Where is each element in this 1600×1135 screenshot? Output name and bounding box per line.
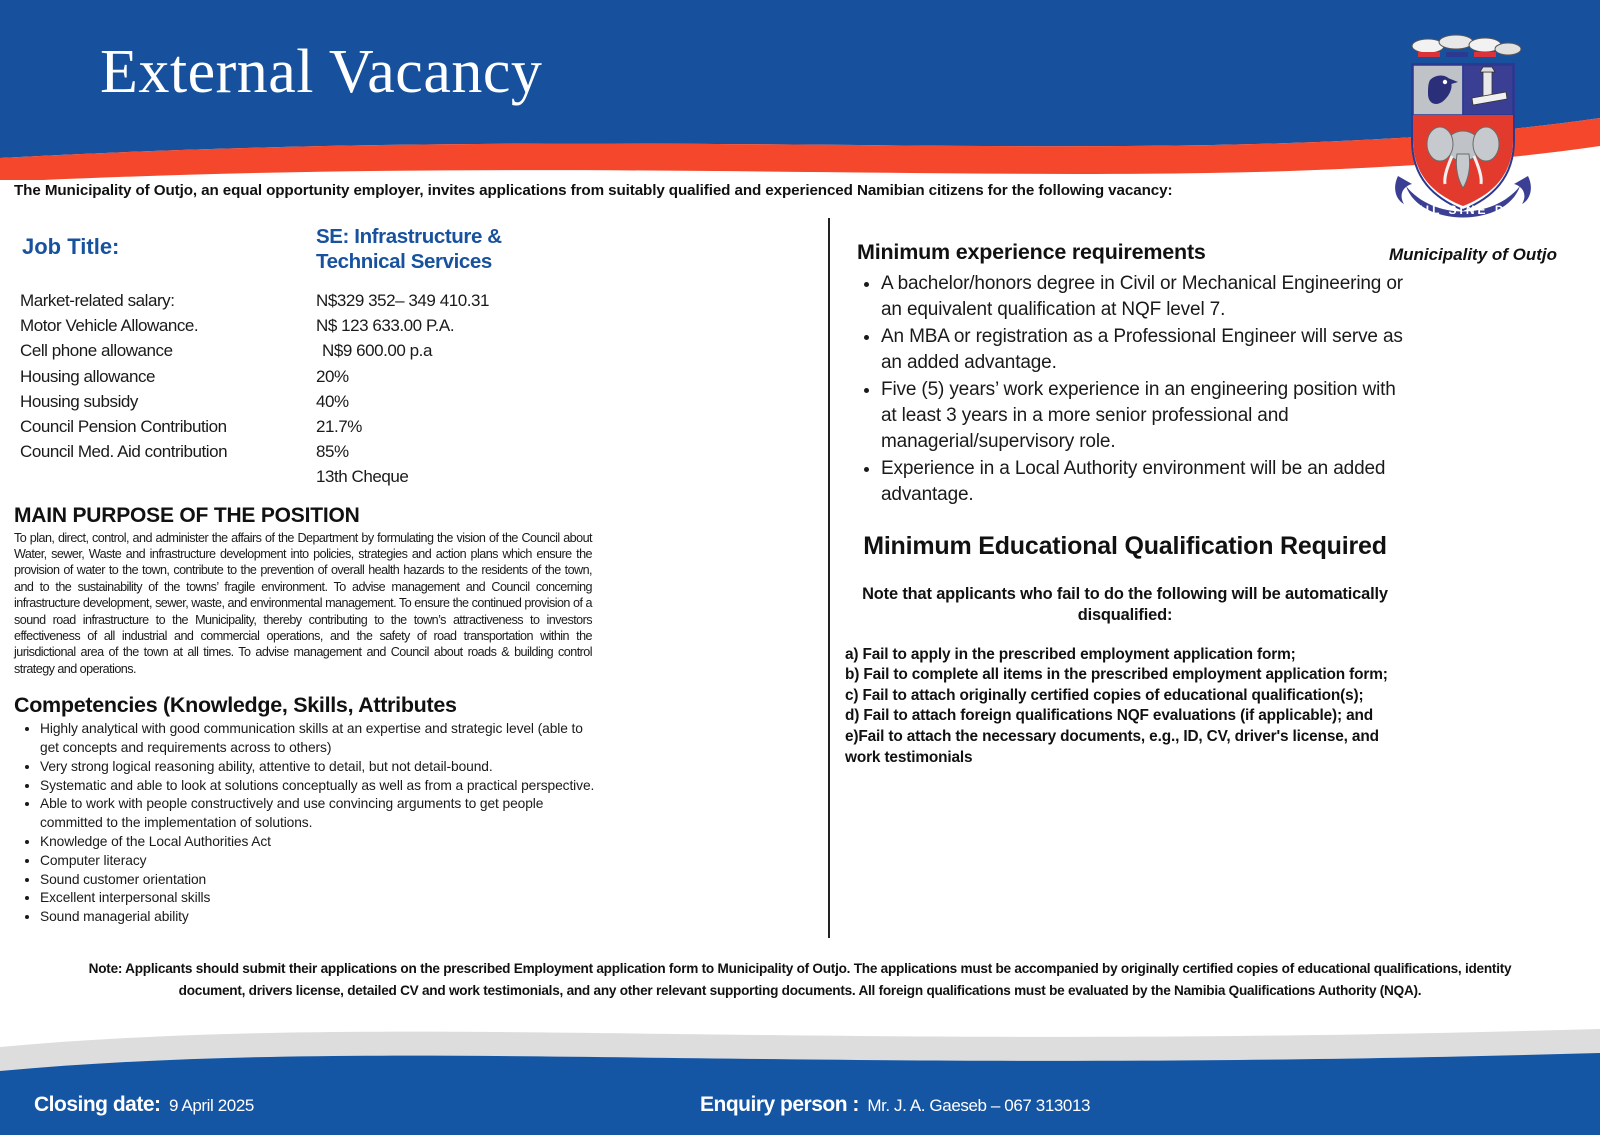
enquiry-label: Enquiry person : [700,1093,859,1116]
job-title-row: Job Title: SE: Infrastructure & Technica… [8,222,600,280]
job-title-value: SE: Infrastructure & Technical Services [316,224,596,274]
competencies-list: Highly analytical with good communicatio… [8,720,600,927]
table-row: 13th Cheque [8,464,600,489]
disqualification-note: Note that applicants who fail to do the … [845,584,1405,627]
list-item: Highly analytical with good communicatio… [40,720,600,758]
page-title: External Vacancy [100,38,542,106]
right-column: Minimum experience requirements A bachel… [845,232,1405,768]
pay-label: Housing allowance [20,364,155,389]
pay-value: 21.7% [316,414,362,439]
pay-label: Cell phone allowance [20,338,173,363]
list-item: Sound customer orientation [40,871,600,890]
table-row: Cell phone allowance N$9 600.00 p.a [8,338,600,363]
table-row: Housing allowance 20% [8,364,600,389]
pay-value: N$329 352– 349 410.31 [316,288,489,313]
list-item: c) Fail to attach originally certified c… [845,686,1405,707]
list-item: Systematic and able to look at solutions… [40,777,600,796]
list-item: e)Fail to attach the necessary documents… [845,727,1405,768]
list-item: Computer literacy [40,852,600,871]
list-item: b) Fail to complete all items in the pre… [845,665,1405,686]
table-row: Market-related salary: N$329 352– 349 41… [8,288,600,313]
shield-icon [1412,64,1514,210]
column-divider [828,218,830,938]
pay-value: 20% [316,364,349,389]
table-row: Council Med. Aid contribution 85% [8,439,600,464]
header-banner: External Vacancy [0,0,1600,180]
pay-label: Motor Vehicle Allowance. [20,313,198,338]
table-row: Housing subsidy 40% [8,389,600,414]
list-item: Experience in a Local Authority environm… [881,456,1405,508]
list-item: Sound managerial ability [40,908,600,927]
pay-extra-value: 13th Cheque [316,467,408,486]
footer-content: Closing date: 9 April 2025 Enquiry perso… [0,1083,1600,1117]
closing-date-value: 9 April 2025 [169,1096,254,1115]
pay-value: N$ 123 633.00 P.A. [316,313,454,338]
disqualification-list: a) Fail to apply in the prescribed emplo… [845,645,1405,769]
remuneration-table: Market-related salary: N$329 352– 349 41… [8,288,600,490]
list-item: A bachelor/honors degree in Civil or Mec… [881,271,1405,323]
pay-label: Council Pension Contribution [20,414,227,439]
list-item: d) Fail to attach foreign qualifications… [845,706,1405,727]
competencies-heading: Competencies (Knowledge, Skills, Attribu… [14,693,600,718]
list-item: Five (5) years’ work experience in an en… [881,377,1405,455]
list-item: a) Fail to apply in the prescribed emplo… [845,645,1405,666]
job-title-label: Job Title: [22,234,119,260]
list-item: Able to work with people constructively … [40,795,600,833]
list-item: Excellent interpersonal skills [40,889,600,908]
pay-label: Housing subsidy [20,389,138,414]
pay-label: Market-related salary: [20,288,175,313]
table-row: Motor Vehicle Allowance. N$ 123 633.00 P… [8,313,600,338]
pay-label: Council Med. Aid contribution [20,439,227,464]
footer-wave-shape [0,1025,1600,1135]
list-item: Knowledge of the Local Authorities Act [40,833,600,852]
main-purpose-heading: MAIN PURPOSE OF THE POSITION [14,504,600,528]
closing-date-label: Closing date: [34,1093,161,1116]
list-item: An MBA or registration as a Professional… [881,324,1405,376]
coat-of-arms-logo: NIHIL SINE DEO [1388,28,1538,243]
vacancy-poster: External Vacancy [0,0,1600,1135]
experience-heading: Minimum experience requirements [857,240,1405,265]
left-column: Job Title: SE: Infrastructure & Technica… [8,222,600,927]
closing-date-block: Closing date: 9 April 2025 [34,1093,254,1117]
pay-value: N$9 600.00 p.a [322,338,432,363]
pay-value: 40% [316,389,349,414]
crest-plume-icon [1412,35,1521,57]
intro-text: The Municipality of Outjo, an equal oppo… [14,182,1384,199]
application-note: Note: Applicants should submit their app… [80,958,1520,1002]
experience-list: A bachelor/honors degree in Civil or Mec… [845,271,1405,508]
enquiry-block: Enquiry person : Mr. J. A. Gaeseb – 067 … [700,1093,1090,1117]
footer-banner: Closing date: 9 April 2025 Enquiry perso… [0,1025,1600,1135]
main-purpose-text: To plan, direct, control, and administer… [14,530,592,678]
pay-value: 85% [316,439,349,464]
list-item: Very strong logical reasoning ability, a… [40,758,600,777]
enquiry-value: Mr. J. A. Gaeseb – 067 313013 [867,1096,1090,1115]
education-heading: Minimum Educational Qualification Requir… [845,530,1405,562]
table-row: Council Pension Contribution 21.7% [8,414,600,439]
svg-text:NIHIL SINE DEO: NIHIL SINE DEO [1396,203,1530,217]
